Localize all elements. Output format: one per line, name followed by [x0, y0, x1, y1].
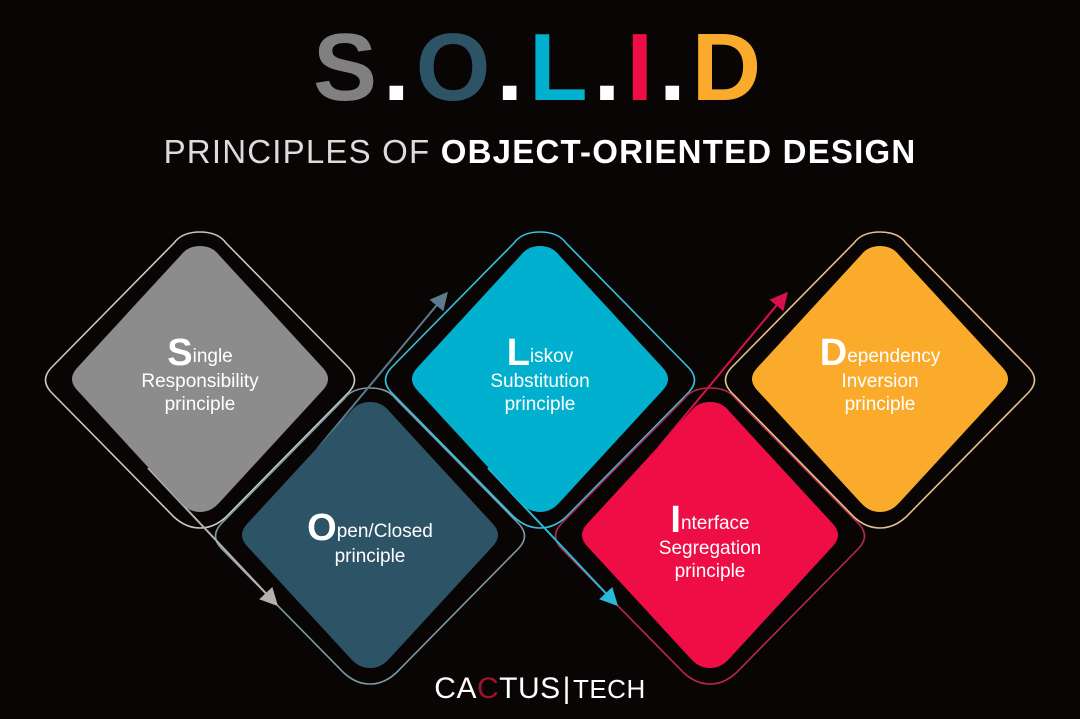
- diamond-single-responsibility[interactable]: [72, 246, 328, 512]
- logo-separator: |: [561, 672, 573, 705]
- diamond-liskov-substitution[interactable]: [412, 246, 668, 512]
- diamond-open-closed[interactable]: [242, 402, 498, 668]
- logo-part1: CA: [434, 672, 477, 705]
- solid-diagram: [0, 0, 1080, 719]
- logo-accent-c: C: [477, 672, 499, 705]
- diamond-dependency-inversion[interactable]: [752, 246, 1008, 512]
- infographic-canvas: S.O.L.I.D PRINCIPLES OF OBJECT-ORIENTED …: [0, 0, 1080, 719]
- logo-tech: TECH: [573, 674, 646, 704]
- filled-diamonds: [72, 246, 1008, 668]
- diamond-interface-segregation[interactable]: [582, 402, 838, 668]
- logo-part3: TUS: [499, 672, 561, 705]
- brand-logo: CACTUS|TECH: [0, 672, 1080, 706]
